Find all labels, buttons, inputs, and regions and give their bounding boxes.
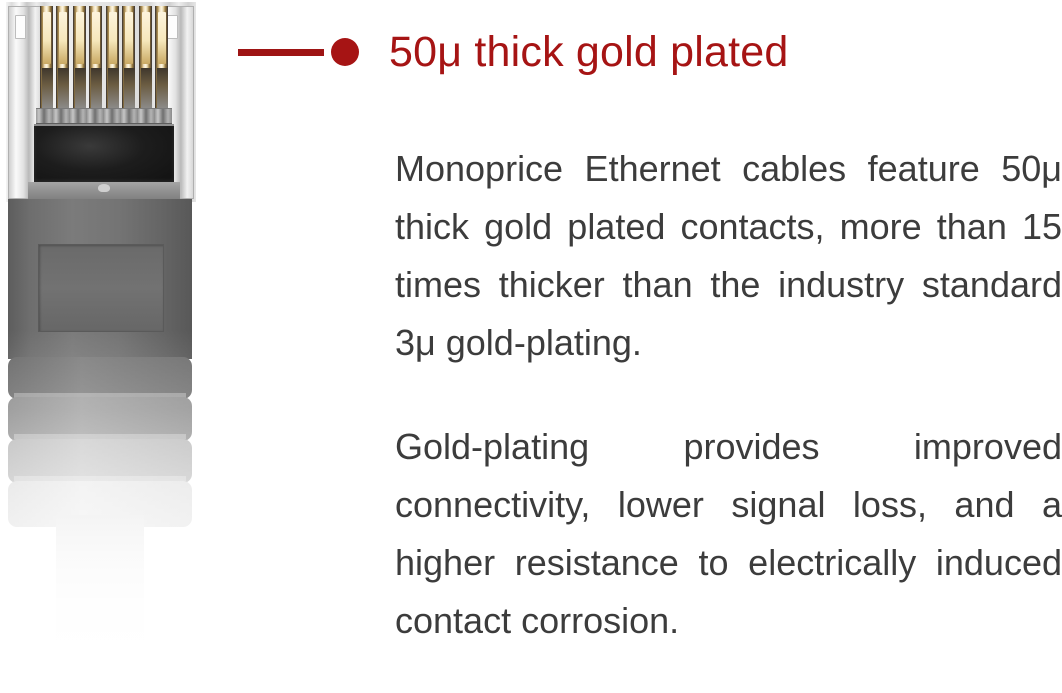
gold-contact-pin	[122, 6, 135, 110]
red-dot-marker-icon	[331, 38, 359, 66]
boot-rib	[8, 357, 192, 399]
boot-recessed-panel	[38, 244, 164, 332]
body-paragraph: Gold-plating provides improved connectiv…	[395, 418, 1062, 650]
gold-contact-pin	[73, 6, 86, 110]
plug-housing	[6, 2, 196, 202]
red-dash-marker-icon	[238, 49, 324, 56]
content-column: 50μ thick gold plated Monoprice Ethernet…	[238, 0, 1062, 693]
gold-contact-pin	[106, 6, 119, 110]
headline-row: 50μ thick gold plated	[238, 22, 789, 82]
feature-headline: 50μ thick gold plated	[389, 31, 789, 74]
body-copy: Monoprice Ethernet cables feature 50μ th…	[395, 140, 1062, 650]
boot-rib	[8, 439, 192, 483]
gold-contact-pin	[56, 6, 69, 110]
gold-contact-pin	[40, 6, 53, 110]
gold-contact-pin	[89, 6, 102, 110]
wire-channel-band	[36, 108, 172, 124]
rj45-connector-photo	[0, 0, 200, 693]
boot-rib	[8, 397, 192, 441]
plug-cavity	[34, 124, 174, 184]
gold-contact-pin	[139, 6, 152, 110]
gold-contact-pin-bay	[40, 6, 168, 110]
gold-contact-pin	[155, 6, 168, 110]
boot-ribbed-section	[8, 357, 192, 517]
body-paragraph: Monoprice Ethernet cables feature 50μ th…	[395, 140, 1062, 372]
cable-jacket	[56, 515, 144, 693]
strain-relief-boot	[8, 199, 192, 359]
